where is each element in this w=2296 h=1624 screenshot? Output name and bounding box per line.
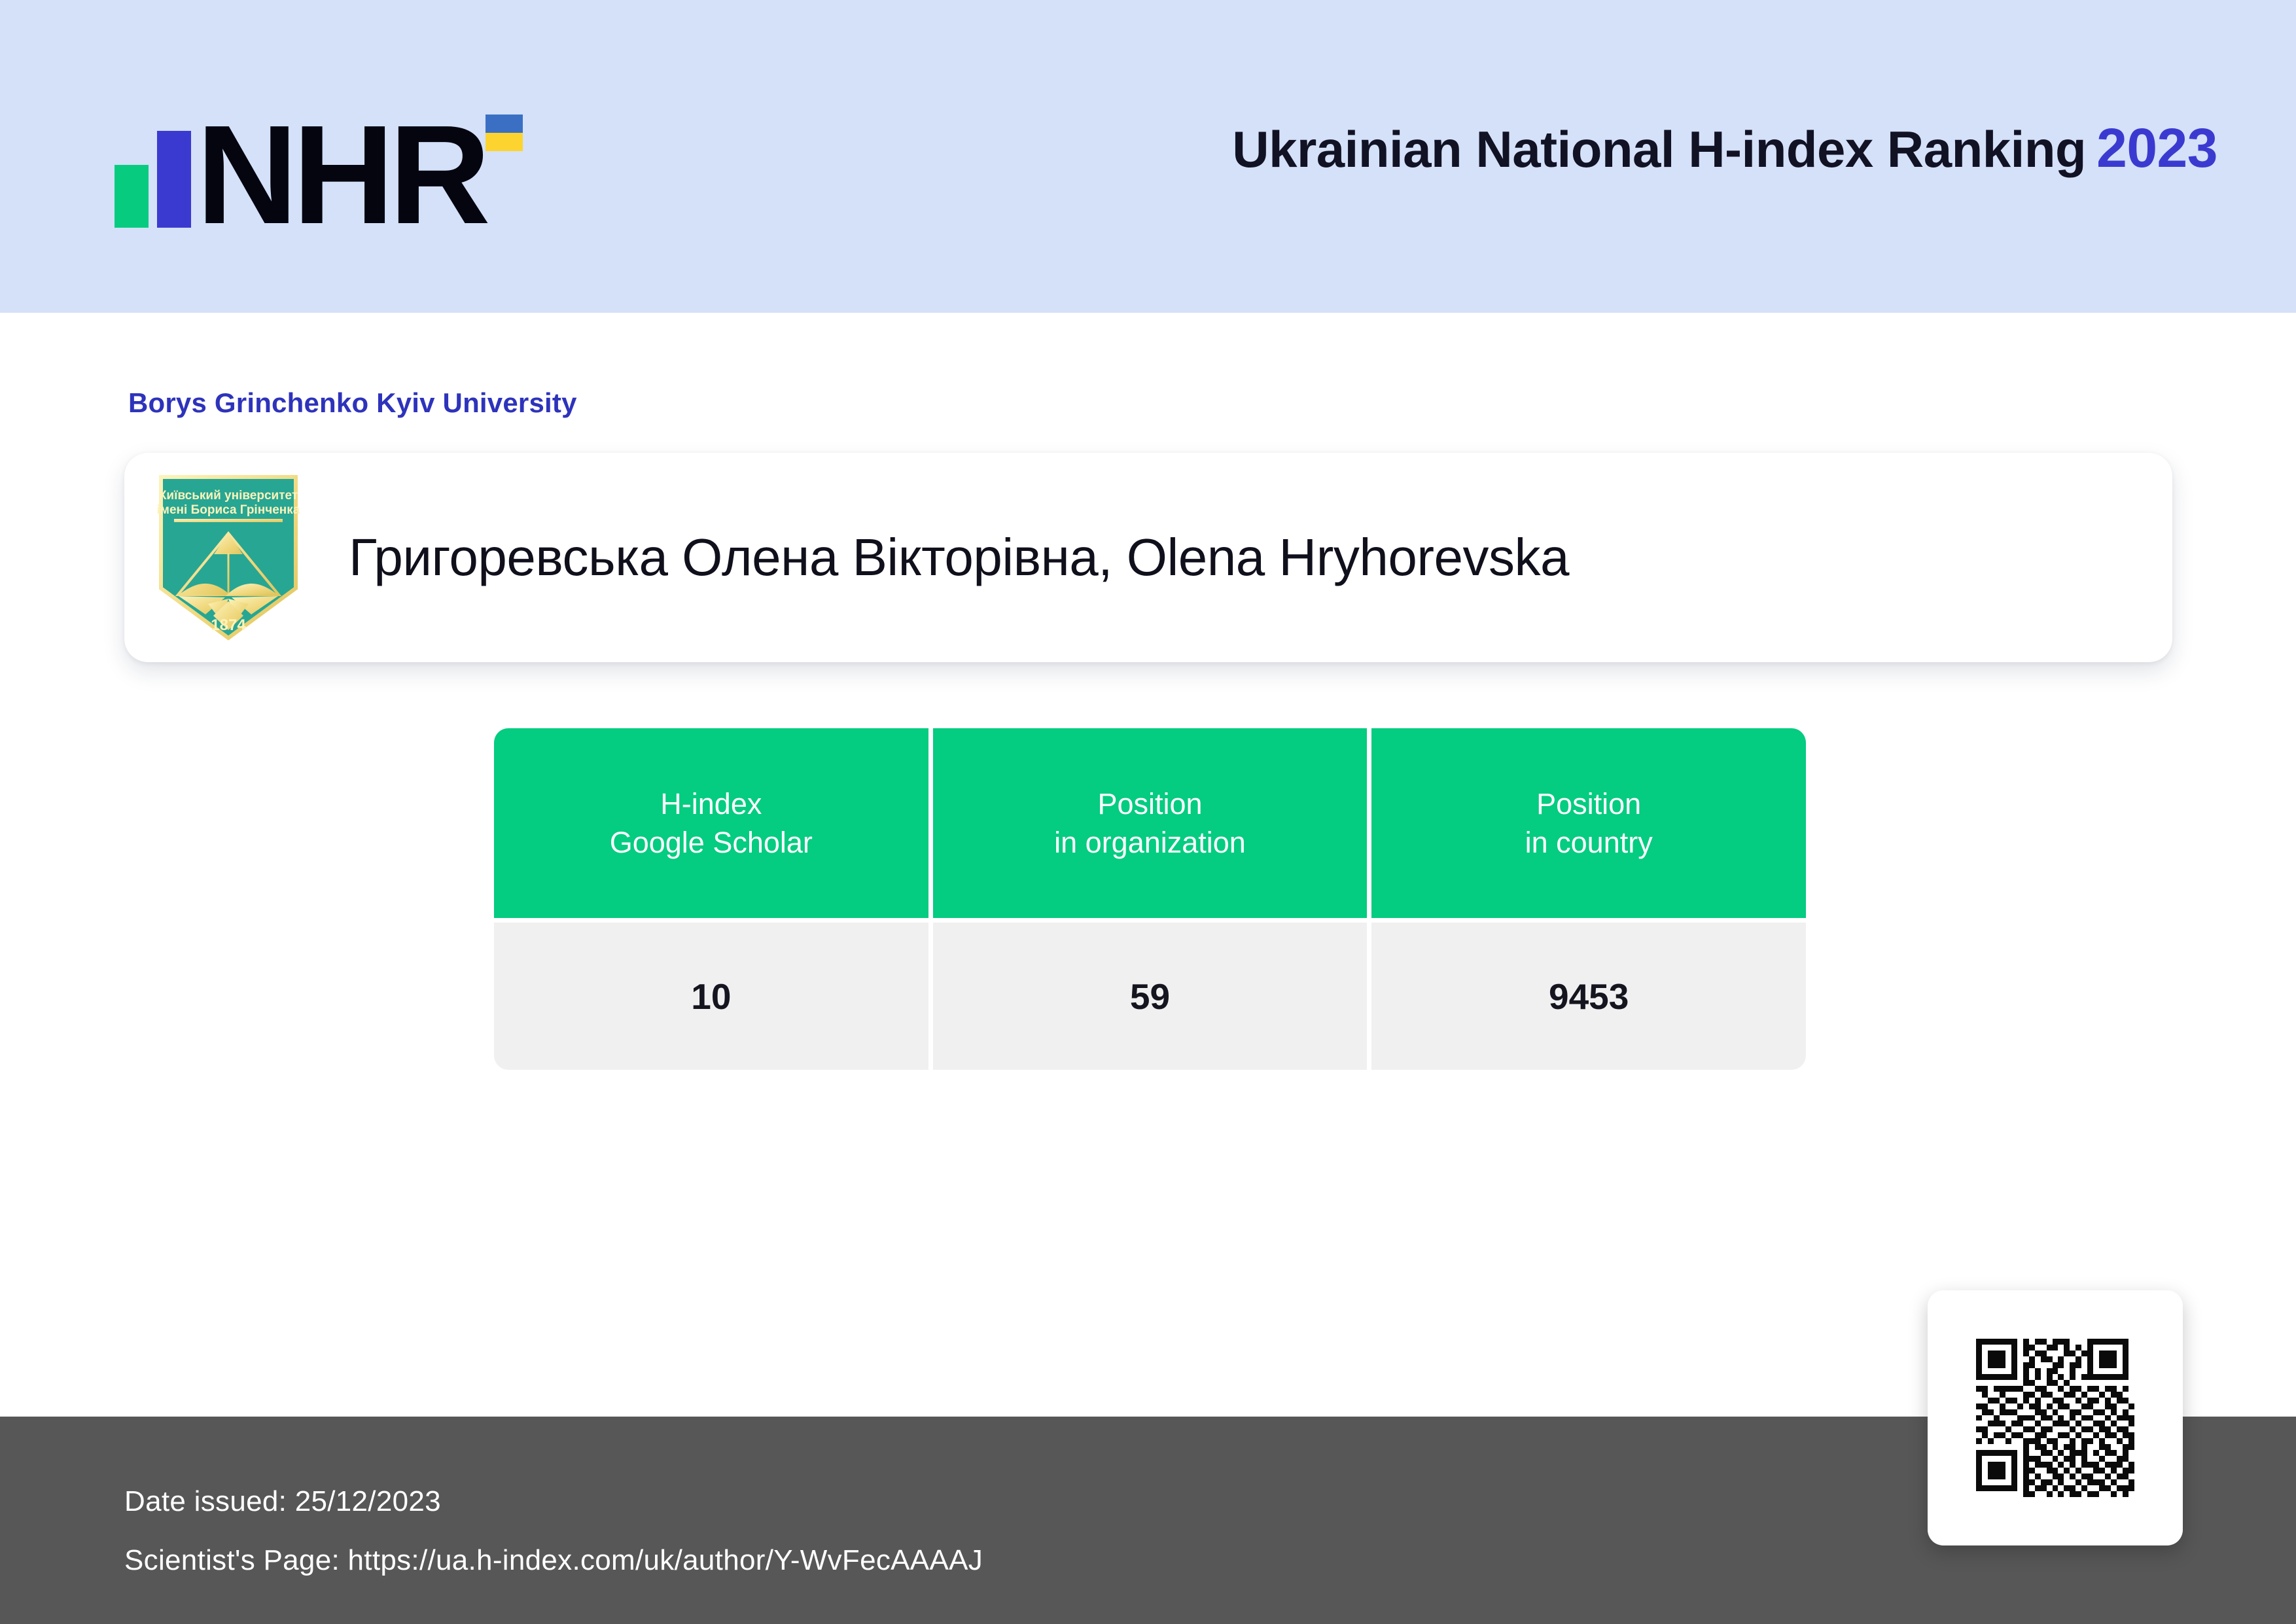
svg-text:Київський університет: Київський університет (159, 489, 298, 503)
scientist-card: Київський університет імені Бориса Грінч… (124, 453, 2172, 662)
university-emblem-icon: Київський університет імені Бориса Грінч… (157, 473, 300, 642)
qr-code-card[interactable] (1928, 1290, 2183, 1545)
stats-header-line1: H-index (660, 785, 762, 823)
stats-value-position-organization: 59 (933, 923, 1368, 1070)
page-title-year: 2023 (2096, 117, 2217, 179)
stats-header-line1: Position (1536, 785, 1641, 823)
stats-table: H-index Google Scholar 10 Position in or… (494, 728, 1806, 1070)
stats-header-line1: Position (1097, 785, 1202, 823)
stats-column-h-index: H-index Google Scholar 10 (494, 728, 928, 1070)
stats-value-position-country: 9453 (1371, 923, 1806, 1070)
scientist-name: Григоревська Олена Вікторівна, Olena Hry… (349, 527, 1569, 588)
flag-stripe-yellow (486, 133, 523, 151)
stats-header-line2: in country (1525, 823, 1653, 862)
logo-bars-icon (115, 97, 191, 228)
svg-text:1874: 1874 (211, 616, 246, 634)
stats-header-line2: Google Scholar (610, 823, 813, 862)
stats-header-line2: in organization (1054, 823, 1246, 862)
stats-header-position-country: Position in country (1371, 728, 1806, 918)
logo-wordmark: NHR (196, 116, 486, 233)
flag-stripe-blue (486, 115, 523, 133)
stats-column-position-country: Position in country 9453 (1371, 728, 1806, 1070)
logo-bar-blue (157, 131, 191, 228)
scientist-page-link[interactable]: Scientist's Page: https://ua.h-index.com… (124, 1544, 983, 1577)
page-header: NHR Ukrainian National H-index Ranking20… (0, 0, 2296, 313)
organization-name: Borys Grinchenko Kyiv University (128, 387, 577, 419)
page-title-text: Ukrainian National H-index Ranking (1232, 120, 2086, 178)
date-issued-label: Date issued: 25/12/2023 (124, 1485, 441, 1518)
qr-code-icon (1958, 1321, 2152, 1515)
nhr-logo: NHR (115, 97, 486, 228)
logo-bar-green (115, 165, 149, 228)
svg-text:імені Бориса Грінченка: імені Бориса Грінченка (157, 503, 300, 517)
stats-column-position-organization: Position in organization 59 (933, 728, 1368, 1070)
stats-value-h-index: 10 (494, 923, 928, 1070)
stats-header-position-organization: Position in organization (933, 728, 1368, 918)
ukraine-flag-icon (486, 115, 523, 151)
page-title: Ukrainian National H-index Ranking2023 (1232, 116, 2217, 180)
stats-header-h-index: H-index Google Scholar (494, 728, 928, 918)
